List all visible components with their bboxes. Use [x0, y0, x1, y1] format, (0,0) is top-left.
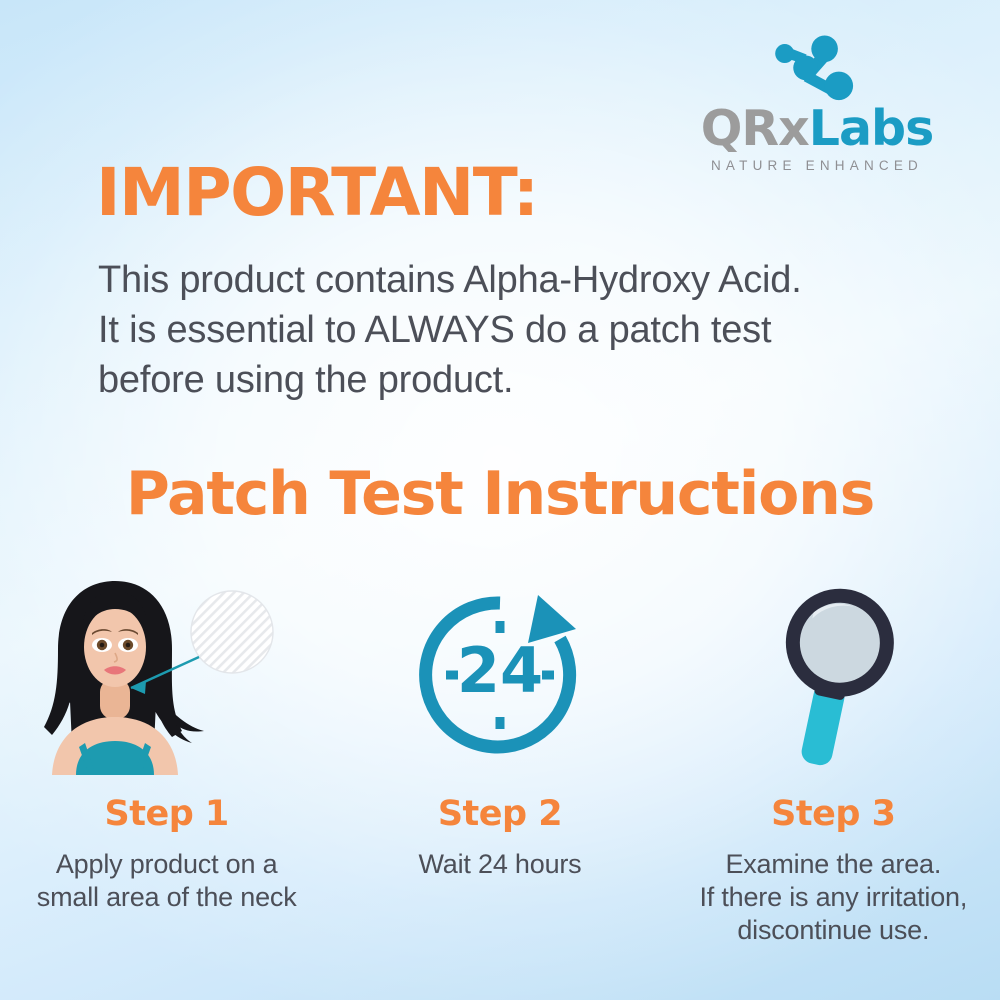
intro-paragraph: This product contains Alpha-Hydroxy Acid…: [98, 255, 978, 405]
brand-tagline: NATURE ENHANCED: [682, 158, 952, 173]
step-1-label: Step 1: [105, 797, 229, 832]
step-3-art: [667, 575, 1000, 775]
brand-name-part1: QRx: [701, 100, 809, 157]
brand-name-part2: Labs: [809, 100, 934, 157]
clock-number: 24: [457, 634, 543, 707]
step-1: Step 1 Apply product on a small area of …: [0, 575, 333, 947]
step-3-desc-line-3: discontinue use.: [699, 914, 967, 947]
step-2-desc-line-1: Wait 24 hours: [419, 848, 582, 881]
step-2: 24 Step 2 Wait 24 hours: [333, 575, 666, 947]
intro-line-1: This product contains Alpha-Hydroxy Acid…: [98, 255, 978, 305]
step-3: Step 3 Examine the area. If there is any…: [667, 575, 1000, 947]
step-2-label: Step 2: [438, 797, 562, 832]
step-3-label: Step 3: [771, 797, 895, 832]
brand-wordmark: QRxLabs: [682, 104, 952, 153]
woman-neck-cotton-pad-illustration: [32, 575, 302, 775]
intro-line-2: It is essential to ALWAYS do a patch tes…: [98, 305, 978, 355]
step-1-desc-line-1: Apply product on a: [37, 848, 297, 881]
molecule-icon: [760, 26, 874, 102]
section-title: Patch Test Instructions: [0, 463, 1000, 526]
step-1-desc-line-2: small area of the neck: [37, 881, 297, 914]
step-1-art: [0, 575, 333, 775]
important-heading: IMPORTANT:: [96, 160, 538, 226]
magnifying-glass-icon: [743, 580, 923, 770]
steps-row: Step 1 Apply product on a small area of …: [0, 575, 1000, 947]
brand-logo: QRxLabs NATURE ENHANCED: [682, 26, 952, 173]
24-hour-clock-icon: 24: [410, 585, 590, 765]
step-1-description: Apply product on a small area of the nec…: [37, 848, 297, 914]
step-3-description: Examine the area. If there is any irrita…: [699, 848, 967, 947]
step-2-description: Wait 24 hours: [419, 848, 582, 881]
intro-line-3: before using the product.: [98, 355, 978, 405]
poster-canvas: QRxLabs NATURE ENHANCED IMPORTANT: This …: [0, 0, 1000, 1000]
step-3-desc-line-2: If there is any irritation,: [699, 881, 967, 914]
step-3-desc-line-1: Examine the area.: [699, 848, 967, 881]
step-2-art: 24: [333, 575, 666, 775]
